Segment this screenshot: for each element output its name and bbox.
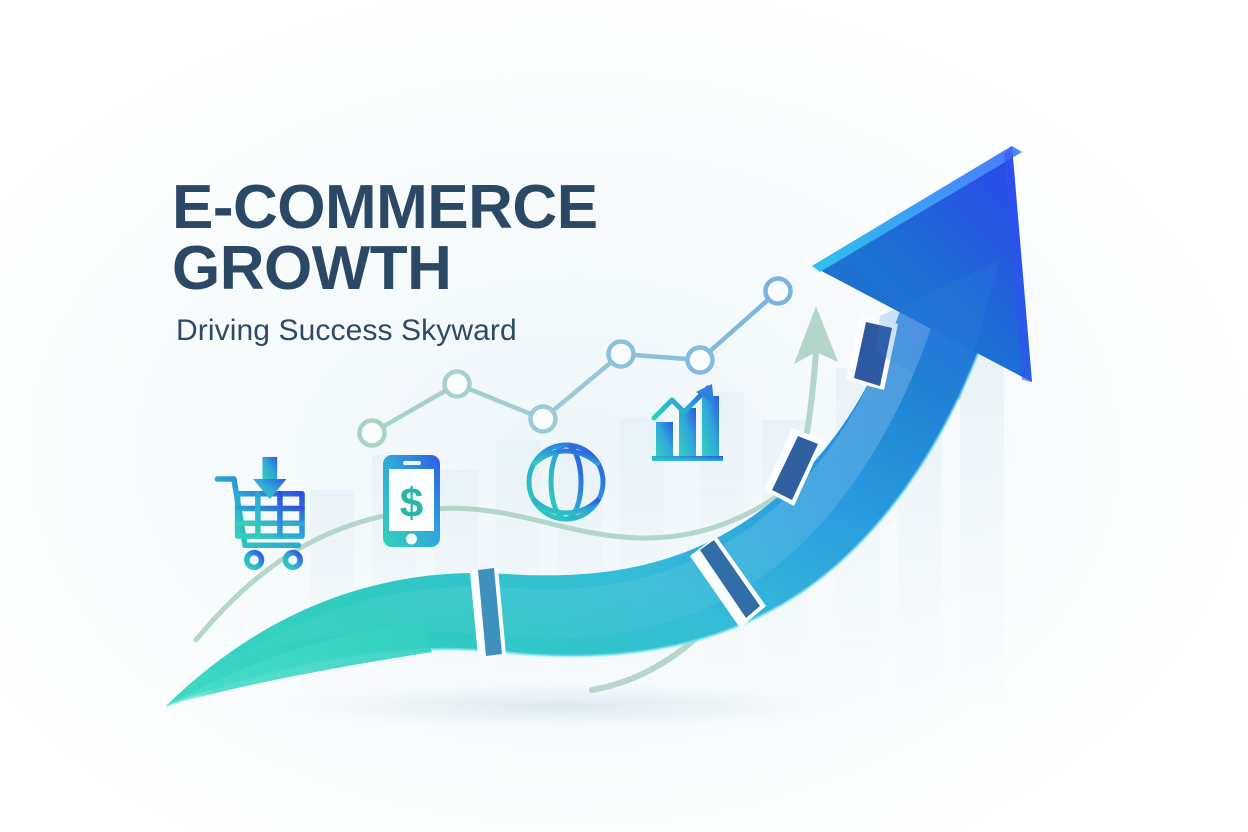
- data-point: [445, 372, 470, 397]
- ribbon-shadow: [240, 680, 880, 732]
- globe-icon: [529, 445, 603, 519]
- data-point: [688, 348, 713, 373]
- data-point: [360, 421, 385, 446]
- svg-text:$: $: [400, 479, 423, 526]
- illustration-canvas: $: [0, 0, 1248, 832]
- data-point: [766, 279, 791, 304]
- data-point: [531, 407, 556, 432]
- mobile-payment-icon: $: [383, 455, 440, 547]
- data-point: [609, 342, 634, 367]
- growth-illustration: $: [0, 0, 1248, 832]
